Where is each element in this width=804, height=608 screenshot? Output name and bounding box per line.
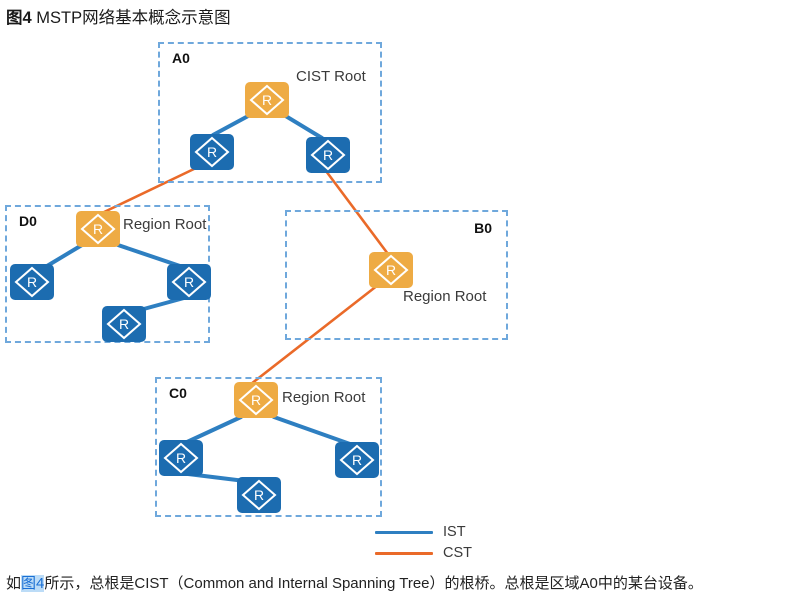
legend-cst-label: CST: [443, 543, 472, 563]
figure-number: 图4: [6, 9, 32, 27]
figure-title: 图4 MSTP网络基本概念示意图: [6, 7, 231, 29]
router-icon: R: [167, 264, 211, 300]
router-icon: R: [76, 211, 120, 247]
router-node-c0-root[interactable]: R: [234, 382, 278, 418]
router-node-c0-left[interactable]: R: [159, 440, 203, 476]
svg-text:R: R: [262, 92, 272, 108]
caption-body: 所示，总根是CIST（Common and Internal Spanning …: [44, 575, 703, 592]
router-icon: R: [10, 264, 54, 300]
region-label-a0: A0: [172, 50, 190, 66]
router-node-b0-root[interactable]: R: [369, 252, 413, 288]
figure-title-text: MSTP网络基本概念示意图: [32, 9, 231, 27]
router-node-a0-root[interactable]: R: [245, 82, 289, 118]
svg-text:R: R: [323, 147, 333, 163]
svg-text:R: R: [254, 487, 264, 503]
b0-region-root: Region Root: [403, 288, 486, 305]
legend: ISTCST: [375, 522, 495, 572]
router-node-d0-left[interactable]: R: [10, 264, 54, 300]
router-node-a0-right[interactable]: R: [306, 137, 350, 173]
svg-text:R: R: [386, 262, 396, 278]
svg-text:R: R: [176, 450, 186, 466]
region-label-d0: D0: [19, 213, 37, 229]
router-icon: R: [234, 382, 278, 418]
caption-figure-link[interactable]: 图4: [21, 575, 44, 592]
legend-ist-swatch: [375, 531, 433, 534]
router-icon: R: [306, 137, 350, 173]
cist-root-label: CIST Root: [296, 68, 366, 85]
svg-text:R: R: [184, 274, 194, 290]
svg-text:R: R: [352, 452, 362, 468]
router-node-d0-right[interactable]: R: [167, 264, 211, 300]
caption-prefix: 如: [6, 575, 21, 592]
c0-region-root: Region Root: [282, 389, 365, 406]
legend-ist: IST: [375, 522, 495, 542]
legend-cst-swatch: [375, 552, 433, 555]
region-label-c0: C0: [169, 385, 187, 401]
router-node-d0-bottom[interactable]: R: [102, 306, 146, 342]
svg-text:R: R: [93, 221, 103, 237]
legend-ist-label: IST: [443, 522, 466, 542]
router-node-d0-root[interactable]: R: [76, 211, 120, 247]
router-icon: R: [190, 134, 234, 170]
svg-text:R: R: [119, 316, 129, 332]
router-icon: R: [237, 477, 281, 513]
router-icon: R: [245, 82, 289, 118]
svg-text:R: R: [251, 392, 261, 408]
router-node-c0-bottom[interactable]: R: [237, 477, 281, 513]
router-node-c0-right[interactable]: R: [335, 442, 379, 478]
legend-cst: CST: [375, 543, 495, 563]
figure-caption: 如图4所示，总根是CIST（Common and Internal Spanni…: [6, 573, 703, 595]
router-icon: R: [369, 252, 413, 288]
region-label-b0: B0: [474, 220, 492, 236]
router-node-a0-left[interactable]: R: [190, 134, 234, 170]
svg-text:R: R: [27, 274, 37, 290]
mstp-topology-diagram: A0D0B0C0 RRRRRRRRRRRR CIST RootRegion Ro…: [0, 30, 804, 565]
d0-region-root: Region Root: [123, 216, 206, 233]
router-icon: R: [159, 440, 203, 476]
router-icon: R: [335, 442, 379, 478]
router-icon: R: [102, 306, 146, 342]
svg-text:R: R: [207, 144, 217, 160]
